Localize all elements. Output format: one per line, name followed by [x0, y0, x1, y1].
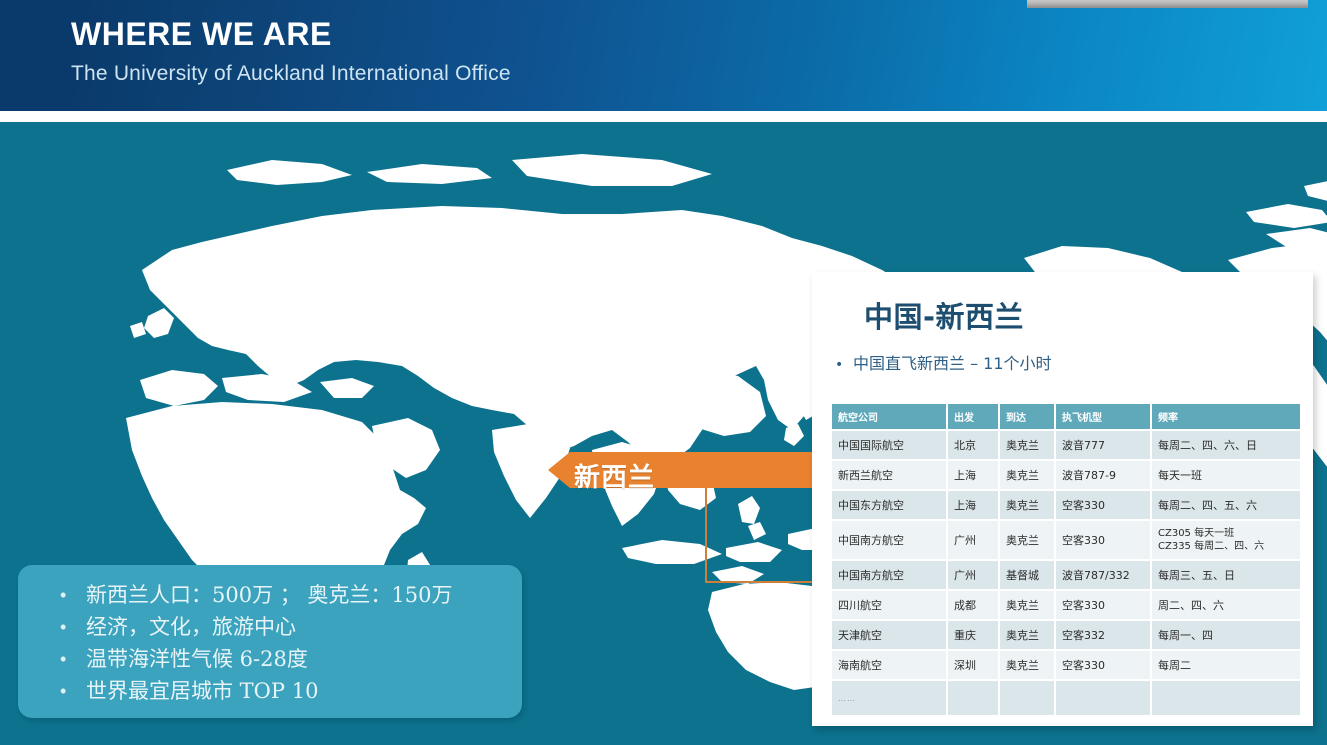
cell-airline: 中国国际航空 — [832, 431, 946, 459]
cell-arrival: 奥克兰 — [1000, 431, 1054, 459]
list-item: 新西兰人口：500万 ； 奥克兰：150万 — [18, 579, 522, 611]
bullet-dot-icon: • — [835, 357, 853, 373]
cell-airline: 四川航空 — [832, 591, 946, 619]
cell-airline: 中国南方航空 — [832, 561, 946, 589]
table-header: 航空公司 出发 到达 执飞机型 频率 — [832, 404, 1300, 429]
list-item: 温带海洋性气候 6-28度 — [18, 643, 522, 675]
card-subtitle-bullet: •中国直飞新西兰 – 11个小时 — [835, 350, 1285, 374]
cell-aircraft: 空客332 — [1056, 621, 1150, 649]
table-row: 海南航空深圳奥克兰空客330每周二 — [832, 651, 1300, 679]
cell-arrival: 奥克兰 — [1000, 461, 1054, 489]
new-zealand-callout-label: 新西兰 — [574, 457, 655, 494]
cell-aircraft: 空客330 — [1056, 491, 1150, 519]
cell-frequency: 每周二、四、五、六 — [1152, 491, 1300, 519]
slide-header: WHERE WE ARE The University of Auckland … — [0, 0, 1327, 111]
list-item: 世界最宜居城市 TOP 10 — [18, 675, 522, 707]
cell-arrival: 奥克兰 — [1000, 621, 1054, 649]
table-row: 中国东方航空上海奥克兰空客330每周二、四、五、六 — [832, 491, 1300, 519]
table-body: 中国国际航空北京奥克兰波音777每周二、四、六、日新西兰航空上海奥克兰波音787… — [832, 431, 1300, 715]
column-header-departure: 出发 — [948, 404, 998, 429]
cell-frequency — [1152, 681, 1300, 715]
cell-frequency: 周二、四、六 — [1152, 591, 1300, 619]
cell-departure: 重庆 — [948, 621, 998, 649]
table-row: 中国国际航空北京奥克兰波音777每周二、四、六、日 — [832, 431, 1300, 459]
cell-arrival: 奥克兰 — [1000, 651, 1054, 679]
cell-airline: 海南航空 — [832, 651, 946, 679]
cell-arrival — [1000, 681, 1054, 715]
table-row: 天津航空重庆奥克兰空客332每周一、四 — [832, 621, 1300, 649]
cell-aircraft: 波音787/332 — [1056, 561, 1150, 589]
column-header-airline: 航空公司 — [832, 404, 946, 429]
table-row: 中国南方航空广州基督城波音787/332每周三、五、日 — [832, 561, 1300, 589]
cell-aircraft: 空客330 — [1056, 651, 1150, 679]
cell-airline: 中国东方航空 — [832, 491, 946, 519]
direct-flights-table: 航空公司 出发 到达 执飞机型 频率 中国国际航空北京奥克兰波音777每周二、四… — [830, 402, 1302, 717]
column-header-frequency: 频率 — [1152, 404, 1300, 429]
china-new-zealand-flight-card: 中国-新西兰 •中国直飞新西兰 – 11个小时 航空公司 出发 到达 执飞机型 … — [812, 272, 1313, 726]
cell-departure: 上海 — [948, 461, 998, 489]
cell-departure — [948, 681, 998, 715]
cell-airline: 中国南方航空 — [832, 521, 946, 559]
cell-airline: 天津航空 — [832, 621, 946, 649]
cell-arrival: 奥克兰 — [1000, 591, 1054, 619]
cell-departure: 成都 — [948, 591, 998, 619]
header-divider — [0, 111, 1327, 122]
cell-aircraft: 波音777 — [1056, 431, 1150, 459]
cell-frequency: 每天一班 — [1152, 461, 1300, 489]
cell-airline: …… — [832, 681, 946, 715]
page-title: WHERE WE ARE — [71, 16, 332, 53]
new-zealand-facts-panel: 新西兰人口：500万 ； 奥克兰：150万 经济，文化，旅游中心 温带海洋性气候… — [18, 565, 522, 718]
presentation-slide: WHERE WE ARE The University of Auckland … — [0, 0, 1327, 745]
list-item: 经济，文化，旅游中心 — [18, 611, 522, 643]
cell-departure: 广州 — [948, 521, 998, 559]
cell-aircraft: 空客330 — [1056, 591, 1150, 619]
table-row: 四川航空成都奥克兰空客330周二、四、六 — [832, 591, 1300, 619]
cell-frequency: 每周三、五、日 — [1152, 561, 1300, 589]
cell-frequency: CZ305 每天一班CZ335 每周二、四、六 — [1152, 521, 1300, 559]
table-header-row: 航空公司 出发 到达 执飞机型 频率 — [832, 404, 1300, 429]
cell-frequency: 每周一、四 — [1152, 621, 1300, 649]
card-title: 中国-新西兰 — [864, 294, 1024, 336]
column-header-arrival: 到达 — [1000, 404, 1054, 429]
cell-arrival: 奥克兰 — [1000, 491, 1054, 519]
cell-departure: 北京 — [948, 431, 998, 459]
facts-list: 新西兰人口：500万 ； 奥克兰：150万 经济，文化，旅游中心 温带海洋性气候… — [18, 579, 522, 707]
table-row: …… — [832, 681, 1300, 715]
card-subtitle-text: 中国直飞新西兰 – 11个小时 — [853, 354, 1052, 373]
cell-departure: 上海 — [948, 491, 998, 519]
cell-aircraft: 波音787-9 — [1056, 461, 1150, 489]
page-subtitle: The University of Auckland International… — [71, 62, 511, 86]
cell-arrival: 基督城 — [1000, 561, 1054, 589]
cell-frequency: 每周二 — [1152, 651, 1300, 679]
window-chrome-strip — [1027, 0, 1308, 8]
cell-aircraft — [1056, 681, 1150, 715]
cell-airline: 新西兰航空 — [832, 461, 946, 489]
cell-departure: 深圳 — [948, 651, 998, 679]
cell-frequency: 每周二、四、六、日 — [1152, 431, 1300, 459]
table-row: 中国南方航空广州奥克兰空客330CZ305 每天一班CZ335 每周二、四、六 — [832, 521, 1300, 559]
cell-aircraft: 空客330 — [1056, 521, 1150, 559]
cell-departure: 广州 — [948, 561, 998, 589]
cell-arrival: 奥克兰 — [1000, 521, 1054, 559]
column-header-aircraft: 执飞机型 — [1056, 404, 1150, 429]
table-row: 新西兰航空上海奥克兰波音787-9每天一班 — [832, 461, 1300, 489]
